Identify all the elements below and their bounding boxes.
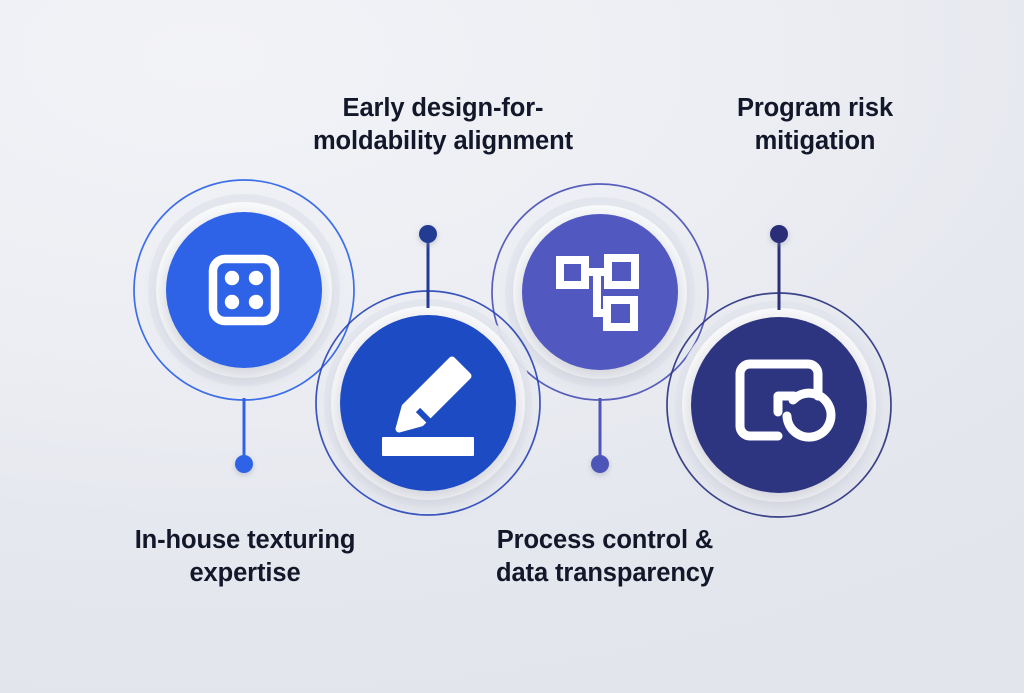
node-1-disc[interactable] bbox=[166, 212, 322, 368]
node-1-label: In-house texturing expertise bbox=[40, 524, 450, 590]
node-1-connector-dot bbox=[235, 455, 253, 473]
node-2-connector-dot bbox=[419, 225, 437, 243]
node-2-group[interactable] bbox=[316, 225, 540, 515]
node-2-label: Early design-for- moldability alignment bbox=[278, 92, 608, 158]
node-3-connector-dot bbox=[591, 455, 609, 473]
node-1-group[interactable] bbox=[134, 180, 354, 473]
node-4-group[interactable] bbox=[667, 225, 891, 517]
node-3-label: Process control & data transparency bbox=[440, 524, 770, 590]
node-4-label: Program risk mitigation bbox=[660, 92, 970, 158]
node-4-connector-dot bbox=[770, 225, 788, 243]
infographic-canvas: In-house texturing expertise Early desig… bbox=[0, 0, 1024, 693]
